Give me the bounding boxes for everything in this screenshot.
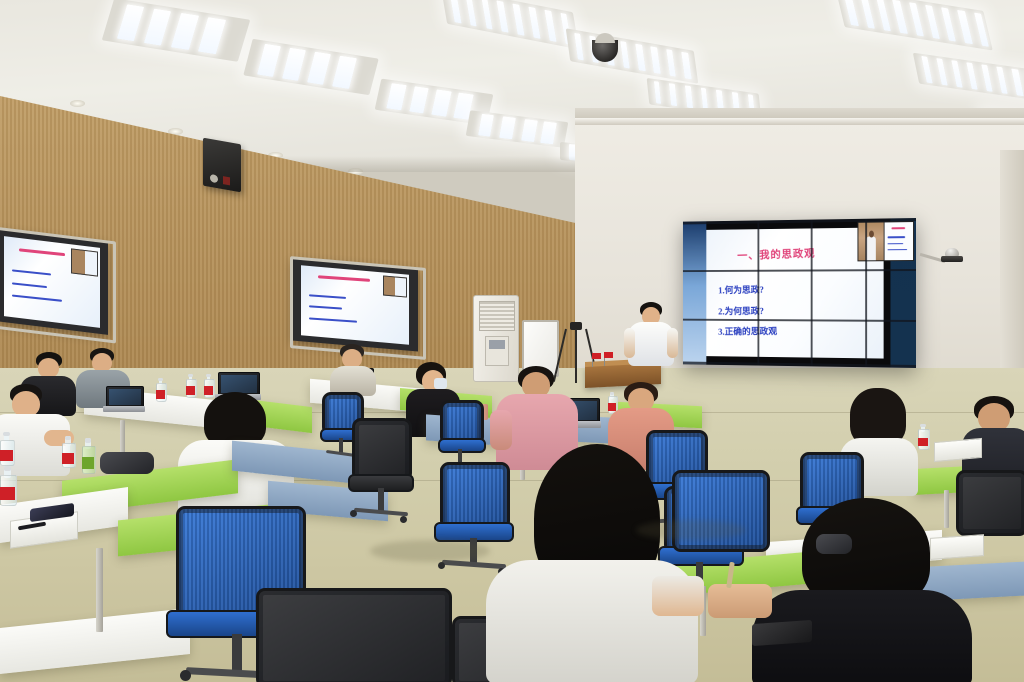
slide-line-1: 1.何为思政? xyxy=(718,282,764,296)
video-wall-left-panels xyxy=(683,221,706,364)
slide-line-2: 2.为何思政? xyxy=(718,303,764,317)
water-bottle xyxy=(156,378,165,402)
ceiling-light xyxy=(441,0,579,49)
desk-leg xyxy=(96,548,103,632)
arm xyxy=(708,584,772,618)
presenter-camera-feed xyxy=(857,221,914,261)
water-bottle xyxy=(62,436,74,468)
ceiling-light xyxy=(243,39,378,95)
presenter xyxy=(624,302,676,372)
ptz-camera xyxy=(941,248,963,262)
notebook xyxy=(930,534,984,560)
chair[interactable] xyxy=(256,588,446,682)
bag xyxy=(816,534,852,554)
classroom-photo: 一、我的思政观 1.何为思政? 2.为何思政? 3.正确的思政观 xyxy=(0,0,1024,682)
main-video-wall: 一、我的思政观 1.何为思政? 2.为何思政? 3.正确的思政观 xyxy=(683,218,916,368)
attendee-a11 xyxy=(486,444,698,682)
arm xyxy=(652,576,704,616)
attendee-a4 xyxy=(330,344,378,392)
ceiling-light xyxy=(835,0,992,50)
tablet xyxy=(752,620,812,646)
downlight xyxy=(70,100,85,107)
bag xyxy=(100,452,154,474)
pip-camera-view xyxy=(858,222,884,260)
desk-flag xyxy=(604,352,613,358)
slide-title: 一、我的思政观 xyxy=(737,245,816,263)
ceiling-light xyxy=(913,53,1024,102)
ceiling-light xyxy=(466,110,569,147)
presenter-arm-right xyxy=(667,328,678,358)
water-bottle xyxy=(0,466,15,506)
water-bottle xyxy=(918,424,928,450)
pip-slide-view xyxy=(884,222,913,260)
water-bottle xyxy=(0,432,13,466)
wall-ledge xyxy=(575,118,1024,125)
water-bottle xyxy=(82,438,94,474)
ceiling-light xyxy=(102,0,251,62)
chair[interactable] xyxy=(352,418,406,476)
attendee-a12 xyxy=(752,498,972,682)
chair[interactable] xyxy=(440,400,478,440)
left-monitor-frame xyxy=(0,227,116,344)
desk-flag xyxy=(592,353,601,359)
face-mask xyxy=(434,378,447,389)
presenter-arm-left xyxy=(624,328,635,358)
notebook xyxy=(934,438,982,462)
ceiling-light xyxy=(566,28,698,83)
laptop xyxy=(106,386,142,412)
wall-speaker xyxy=(203,138,241,193)
slide-line-3: 3.正确的思政观 xyxy=(718,323,777,337)
